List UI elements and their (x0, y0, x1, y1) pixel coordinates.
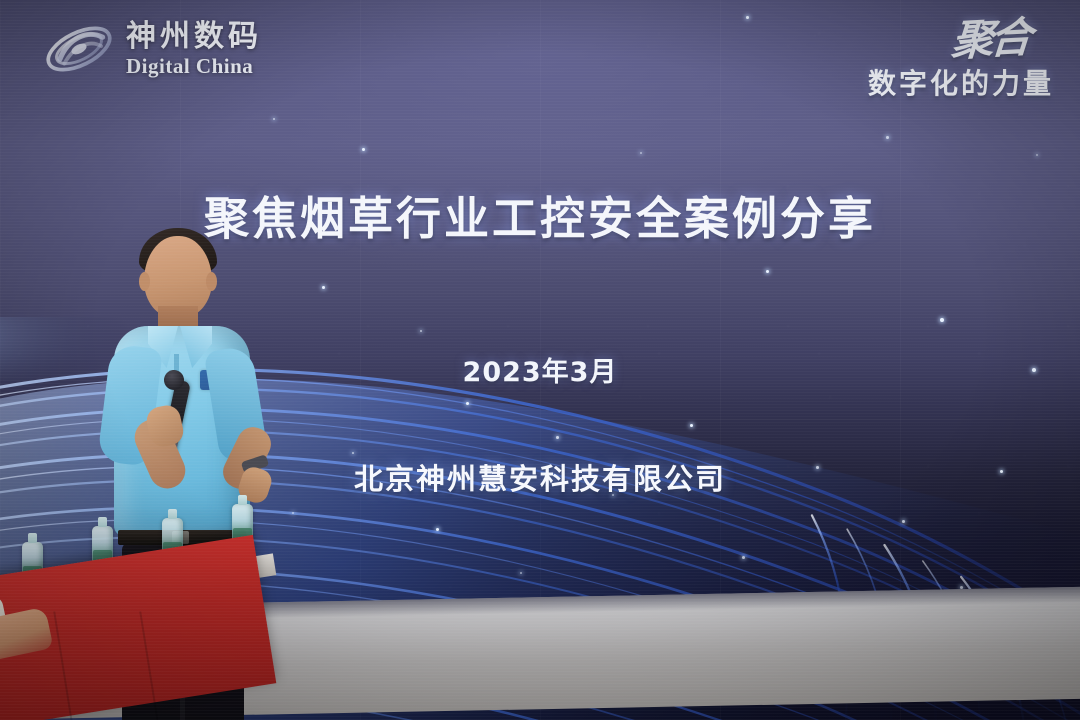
presenter-ear-left (139, 272, 150, 291)
presenter-ear-right (206, 272, 217, 291)
head-table (0, 540, 280, 720)
slogan-subtitle: 数字化的力量 (868, 62, 1054, 102)
brand-text: 神州数码 Digital China (126, 22, 262, 77)
conference-photo: 聚焦烟草行业工控安全案例分享 2023年3月 北京神州慧安科技有限公司 神州数码 (0, 0, 1080, 720)
digital-china-swirl-logo-icon (42, 18, 116, 80)
brand-name-cn: 神州数码 (126, 22, 262, 52)
slogan-calligraphy: 聚合 (866, 16, 1056, 66)
event-slogan: 聚合 数字化的力量 (868, 16, 1054, 102)
brand-logo: 神州数码 Digital China (42, 18, 262, 80)
brand-name-en: Digital China (126, 56, 262, 77)
